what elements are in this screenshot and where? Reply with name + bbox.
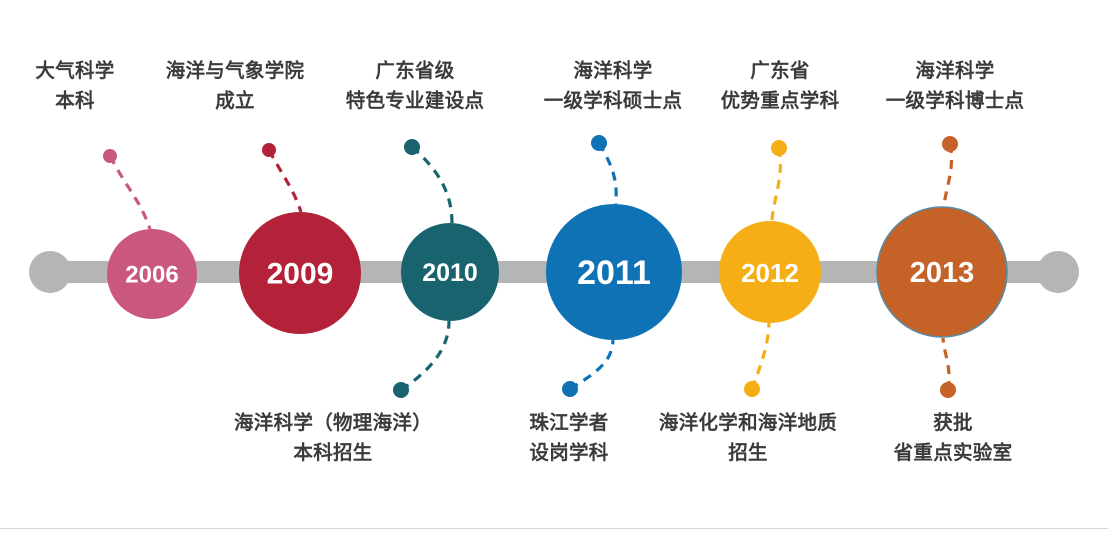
milestone-2006-connector-top	[110, 156, 150, 229]
label-line: 海洋化学和海洋地质	[659, 408, 837, 438]
label-line: 广东省级	[346, 56, 485, 86]
milestone-2011-endpoint-dot-bottom	[562, 381, 578, 397]
milestone-2010-endpoint-dot-top	[404, 139, 420, 155]
milestone-2010-connector-top	[412, 147, 452, 223]
label-line: 广东省	[721, 56, 840, 86]
label-line: 本科招生	[234, 438, 432, 468]
label-line: 大气科学	[35, 56, 114, 86]
milestone-2010-label-top: 广东省级特色专业建设点	[346, 56, 485, 116]
timeline-infographic: 200620092010201120122013 大气科学本科海洋与气象学院成立…	[0, 0, 1108, 535]
label-line: 海洋科学	[544, 56, 683, 86]
label-line: 海洋与气象学院	[166, 56, 305, 86]
label-line: 海洋科学	[886, 56, 1025, 86]
bottom-divider	[0, 528, 1108, 529]
axis-cap-left-icon	[29, 251, 71, 293]
milestone-2013-endpoint-dot-bottom	[940, 382, 956, 398]
milestone-2006-endpoint-dot-top	[103, 149, 117, 163]
label-line: 优势重点学科	[721, 86, 840, 116]
milestone-2009-year-label: 2009	[267, 258, 334, 291]
label-line: 特色专业建设点	[346, 86, 485, 116]
milestone-2010-connector-bottom	[401, 321, 449, 390]
label-line: 本科	[35, 86, 114, 116]
milestone-2012-endpoint-dot-top	[771, 140, 787, 156]
milestone-2009-connector-top	[269, 150, 301, 212]
axis-cap-right-icon	[1037, 251, 1079, 293]
milestone-2013-endpoint-dot-top	[942, 136, 958, 152]
label-line: 招生	[659, 438, 837, 468]
milestone-2012-label-top: 广东省优势重点学科	[721, 56, 840, 116]
label-line: 一级学科博士点	[886, 86, 1025, 116]
milestone-2012-connector-top	[772, 148, 780, 220]
label-line: 获批	[894, 408, 1013, 438]
milestone-2010-label-bottom: 海洋科学（物理海洋）本科招生	[234, 408, 432, 468]
milestone-2011-connector-bottom	[570, 340, 613, 389]
milestone-2012-connector-bottom	[752, 323, 769, 389]
label-line: 设岗学科	[529, 438, 608, 468]
milestone-2010-year-label: 2010	[422, 259, 478, 287]
milestone-2006-year-label: 2006	[125, 262, 178, 289]
milestone-2010-endpoint-dot-bottom	[393, 382, 409, 398]
milestone-2011-year-label: 2011	[577, 254, 651, 292]
milestone-2009-endpoint-dot-top	[262, 143, 276, 157]
milestone-2012-label-bottom: 海洋化学和海洋地质招生	[659, 408, 837, 468]
milestone-2012-endpoint-dot-bottom	[744, 381, 760, 397]
milestone-2011-label-top: 海洋科学一级学科硕士点	[544, 56, 683, 116]
milestone-2013-label-bottom: 获批省重点实验室	[894, 408, 1013, 468]
milestone-2009-label-top: 海洋与气象学院成立	[166, 56, 305, 116]
label-line: 省重点实验室	[894, 438, 1013, 468]
milestone-2011-label-bottom: 珠江学者设岗学科	[529, 408, 608, 468]
milestone-2011-connector-top	[599, 143, 616, 204]
label-line: 成立	[166, 86, 305, 116]
milestone-2013-connector-top	[944, 144, 951, 206]
milestone-2013-year-label: 2013	[910, 257, 975, 289]
milestone-2006-label-top: 大气科学本科	[35, 56, 114, 116]
milestone-2013-label-top: 海洋科学一级学科博士点	[886, 56, 1025, 116]
label-line: 珠江学者	[529, 408, 608, 438]
label-line: 一级学科硕士点	[544, 86, 683, 116]
milestone-2011-endpoint-dot-top	[591, 135, 607, 151]
label-line: 海洋科学（物理海洋）	[234, 408, 432, 438]
milestone-2012-year-label: 2012	[741, 258, 799, 288]
